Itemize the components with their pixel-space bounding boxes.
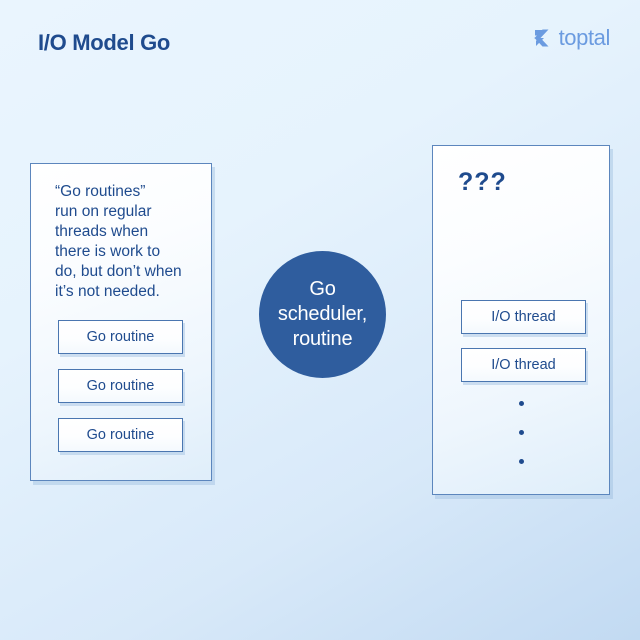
- ellipsis-dot: [519, 430, 524, 435]
- go-scheduler-label: Go scheduler, routine: [278, 277, 367, 352]
- io-threads-panel: ??? I/O thread I/O thread: [432, 145, 610, 495]
- brand-wordmark: toptal: [559, 27, 610, 49]
- go-scheduler-node[interactable]: Go scheduler, routine: [259, 251, 386, 378]
- vertical-ellipsis-icon: [433, 401, 609, 464]
- ellipsis-dot: [519, 401, 524, 406]
- unknown-marker: ???: [458, 168, 507, 197]
- go-routines-panel: “Go routines” run on regular threads whe…: [30, 163, 212, 481]
- io-thread-box[interactable]: I/O thread: [461, 300, 586, 334]
- go-routines-description: “Go routines” run on regular threads whe…: [55, 182, 205, 302]
- toptal-chevron-icon: [533, 27, 553, 49]
- io-thread-box[interactable]: I/O thread: [461, 348, 586, 382]
- diagram-canvas: I/O Model Go toptal “Go routines” run on…: [0, 0, 640, 640]
- ellipsis-dot: [519, 459, 524, 464]
- go-routine-box[interactable]: Go routine: [58, 320, 183, 354]
- go-routine-box[interactable]: Go routine: [58, 418, 183, 452]
- brand-logo: toptal: [533, 27, 610, 49]
- go-routine-box[interactable]: Go routine: [58, 369, 183, 403]
- page-title: I/O Model Go: [38, 30, 170, 56]
